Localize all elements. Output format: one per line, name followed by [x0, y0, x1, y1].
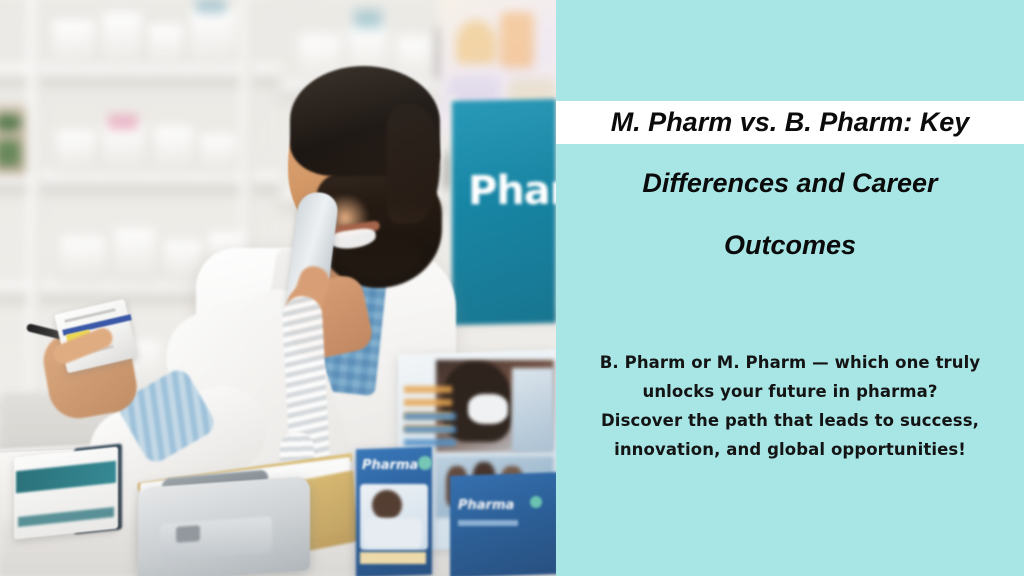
product-logo-dot-right [530, 496, 542, 508]
product-box-right-label: Pharma [458, 498, 530, 514]
hair-side [386, 104, 440, 224]
slide-title-line-1: M. Pharm vs. B. Pharm: Key [556, 101, 1024, 144]
body-line-3: Discover the path that leads to success, [580, 406, 1000, 435]
slide-body-text: B. Pharm or M. Pharm — which one truly u… [580, 348, 1000, 464]
brochure-clinician [512, 368, 554, 452]
product-logo-dot-left [418, 456, 432, 470]
text-panel: M. Pharm vs. B. Pharm: Key Differences a… [556, 0, 1024, 576]
pharmacy-sign-text: Phar [468, 168, 556, 214]
product-box-person-head [372, 490, 402, 520]
product-box-subtext [458, 520, 518, 526]
product-box-band [360, 552, 426, 564]
body-line-2: unlocks your future in pharma? [580, 377, 1000, 406]
product-box-person-body [364, 518, 422, 548]
product-box-left-label: Pharma [362, 458, 418, 474]
brochure-subhead [404, 412, 456, 446]
brochure-face-mask [468, 394, 508, 424]
slide-title-line-2: Differences and Career [556, 162, 1024, 205]
phone-keypad-slot [176, 525, 200, 543]
pharmacy-photo: Phar [0, 0, 556, 576]
slide-canvas: Phar [0, 0, 1024, 576]
slide-title-line-3: Outcomes [556, 224, 1024, 267]
body-line-1: B. Pharm or M. Pharm — which one truly [580, 348, 1000, 377]
body-line-4: innovation, and global opportunities! [580, 435, 1000, 464]
